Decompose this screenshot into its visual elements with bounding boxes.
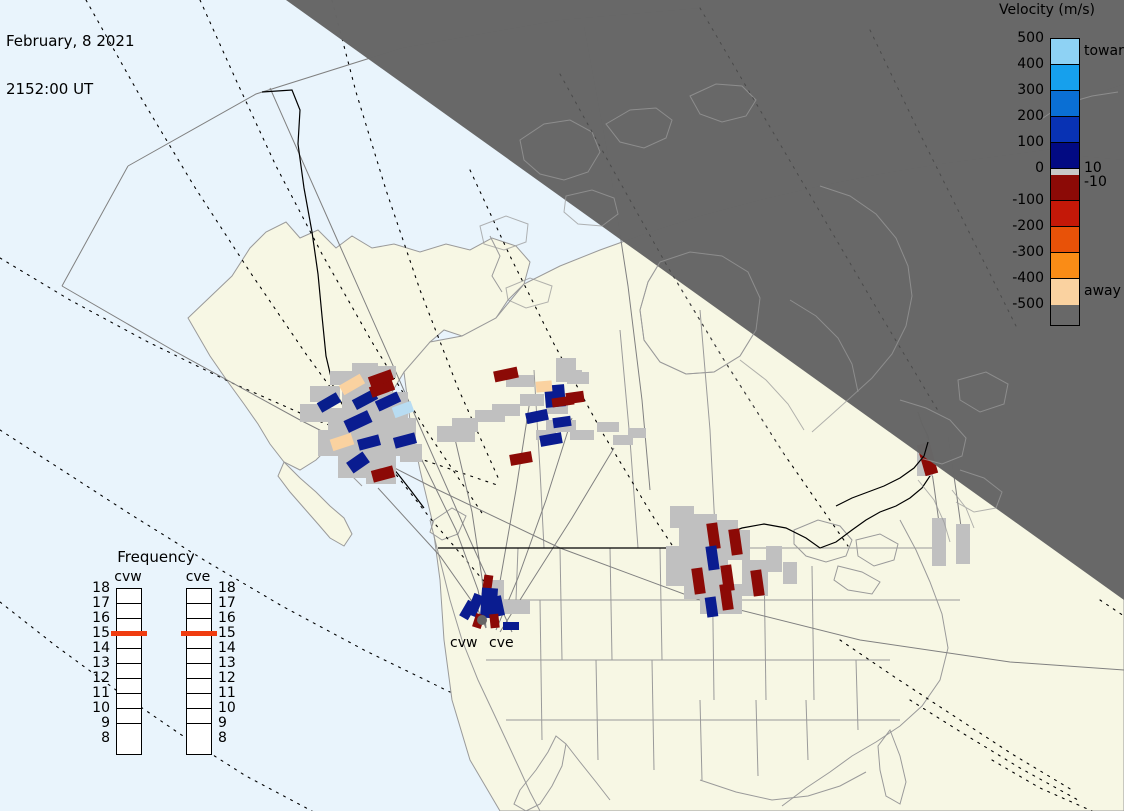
frequency-cell	[117, 604, 141, 619]
velocity-tick-label: 0	[978, 161, 1044, 175]
frequency-cell	[187, 589, 211, 604]
velocity-tick-label: -400	[978, 271, 1044, 285]
velocity-band	[1051, 65, 1079, 91]
frequency-cell	[187, 664, 211, 679]
velocity-tick-label: -200	[978, 219, 1044, 233]
frequency-tick-label: 17	[88, 596, 110, 610]
frequency-cell	[187, 604, 211, 619]
frequency-cell	[117, 724, 141, 739]
timestamp-time: 2152:00 UT	[6, 81, 135, 97]
frequency-tick-label: 15	[88, 626, 110, 640]
frequency-tick-label: 13	[218, 656, 240, 670]
frequency-tick-label: 15	[218, 626, 240, 640]
frequency-legend-title: Frequency	[86, 548, 226, 566]
frequency-tick-label: 9	[88, 716, 110, 730]
velocity-colorbar[interactable]	[1050, 38, 1080, 326]
velocity-tick-label: 500	[978, 31, 1044, 45]
site-label-cve: cve	[489, 635, 514, 651]
frequency-scale-cve[interactable]	[186, 588, 212, 755]
ground-scatter-cell	[452, 418, 478, 432]
ground-scatter-cell	[783, 562, 797, 584]
frequency-marker-cve	[181, 631, 217, 636]
velocity-cell	[536, 380, 553, 392]
velocity-legend-title: Velocity (m/s)	[978, 2, 1116, 18]
frequency-tick-label: 10	[88, 701, 110, 715]
site-label-cvw: cvw	[450, 635, 477, 651]
frequency-tick-label: 14	[88, 641, 110, 655]
velocity-upper-threshold-label: 10	[1084, 161, 1102, 175]
frequency-column-label-cve: cve	[176, 569, 220, 585]
frequency-cell	[187, 634, 211, 649]
frequency-tick-label: 12	[218, 671, 240, 685]
frequency-tick-label: 9	[218, 716, 240, 730]
ground-scatter-cell	[567, 372, 589, 384]
ground-scatter-cell	[556, 358, 576, 370]
ground-scatter-cell	[570, 430, 594, 440]
frequency-tick-label: 8	[88, 731, 110, 745]
ground-scatter-cell	[932, 518, 946, 566]
velocity-away-label: away	[1084, 284, 1121, 298]
velocity-band	[1051, 253, 1079, 279]
frequency-cell	[187, 709, 211, 724]
frequency-tick-label: 18	[88, 581, 110, 595]
velocity-legend: Velocity (m/s) 5004003002001000-100-200-…	[978, 2, 1124, 338]
ground-scatter-cell	[956, 524, 970, 564]
frequency-tick-label: 11	[218, 686, 240, 700]
frequency-legend: Frequency cvw18171615141312111098cve1817…	[86, 548, 234, 776]
frequency-tick-label: 18	[218, 581, 240, 595]
frequency-cell	[117, 679, 141, 694]
velocity-band	[1051, 279, 1079, 305]
velocity-tick-label: 300	[978, 83, 1044, 97]
velocity-band	[1051, 175, 1079, 201]
frequency-tick-label: 11	[88, 686, 110, 700]
velocity-toward-label: toward	[1084, 44, 1124, 58]
ground-scatter-cell	[520, 394, 544, 406]
velocity-tick-label: -300	[978, 245, 1044, 259]
velocity-tick-label: 100	[978, 135, 1044, 149]
velocity-band	[1051, 91, 1079, 117]
frequency-cell	[187, 649, 211, 664]
frequency-cell	[117, 694, 141, 709]
frequency-cell	[117, 589, 141, 604]
velocity-lower-threshold-label: -10	[1084, 175, 1107, 189]
velocity-band	[1051, 117, 1079, 143]
velocity-cell	[503, 622, 519, 630]
timestamp-block: February, 8 2021 2152:00 UT	[6, 1, 135, 129]
frequency-cell	[187, 724, 211, 739]
ground-scatter-cell	[670, 506, 694, 528]
frequency-tick-label: 16	[218, 611, 240, 625]
frequency-marker-cvw	[111, 631, 147, 636]
frequency-tick-label: 10	[218, 701, 240, 715]
radar-site-marker[interactable]	[477, 615, 487, 625]
ground-scatter-cell	[766, 546, 782, 572]
frequency-cell	[117, 649, 141, 664]
velocity-band	[1051, 201, 1079, 227]
frequency-tick-label: 14	[218, 641, 240, 655]
frequency-tick-label: 16	[88, 611, 110, 625]
frequency-tick-label: 8	[218, 731, 240, 745]
frequency-cell	[117, 634, 141, 649]
frequency-tick-label: 13	[88, 656, 110, 670]
frequency-scale-cvw[interactable]	[116, 588, 142, 755]
frequency-cell	[187, 694, 211, 709]
frequency-cell	[187, 679, 211, 694]
velocity-band	[1051, 143, 1079, 169]
timestamp-date: February, 8 2021	[6, 33, 135, 49]
velocity-band	[1051, 227, 1079, 253]
velocity-cell	[489, 614, 499, 629]
velocity-tick-label: 400	[978, 57, 1044, 71]
velocity-tick-labels: 5004003002001000-100-200-300-400-500	[978, 38, 1044, 326]
frequency-tick-label: 17	[218, 596, 240, 610]
frequency-column-label-cvw: cvw	[106, 569, 150, 585]
superdarn-velocity-map: February, 8 2021 2152:00 UT cvw cve Velo…	[0, 0, 1124, 811]
velocity-tick-label: -500	[978, 297, 1044, 311]
ground-scatter-cell	[400, 444, 422, 462]
ground-scatter-cell	[492, 404, 520, 416]
frequency-cell	[117, 709, 141, 724]
frequency-cell	[117, 664, 141, 679]
ground-scatter-cell	[628, 428, 646, 438]
frequency-tick-label: 12	[88, 671, 110, 685]
velocity-tick-label: -100	[978, 193, 1044, 207]
ground-scatter-cell	[597, 422, 619, 432]
velocity-tick-label: 200	[978, 109, 1044, 123]
velocity-band	[1051, 39, 1079, 65]
